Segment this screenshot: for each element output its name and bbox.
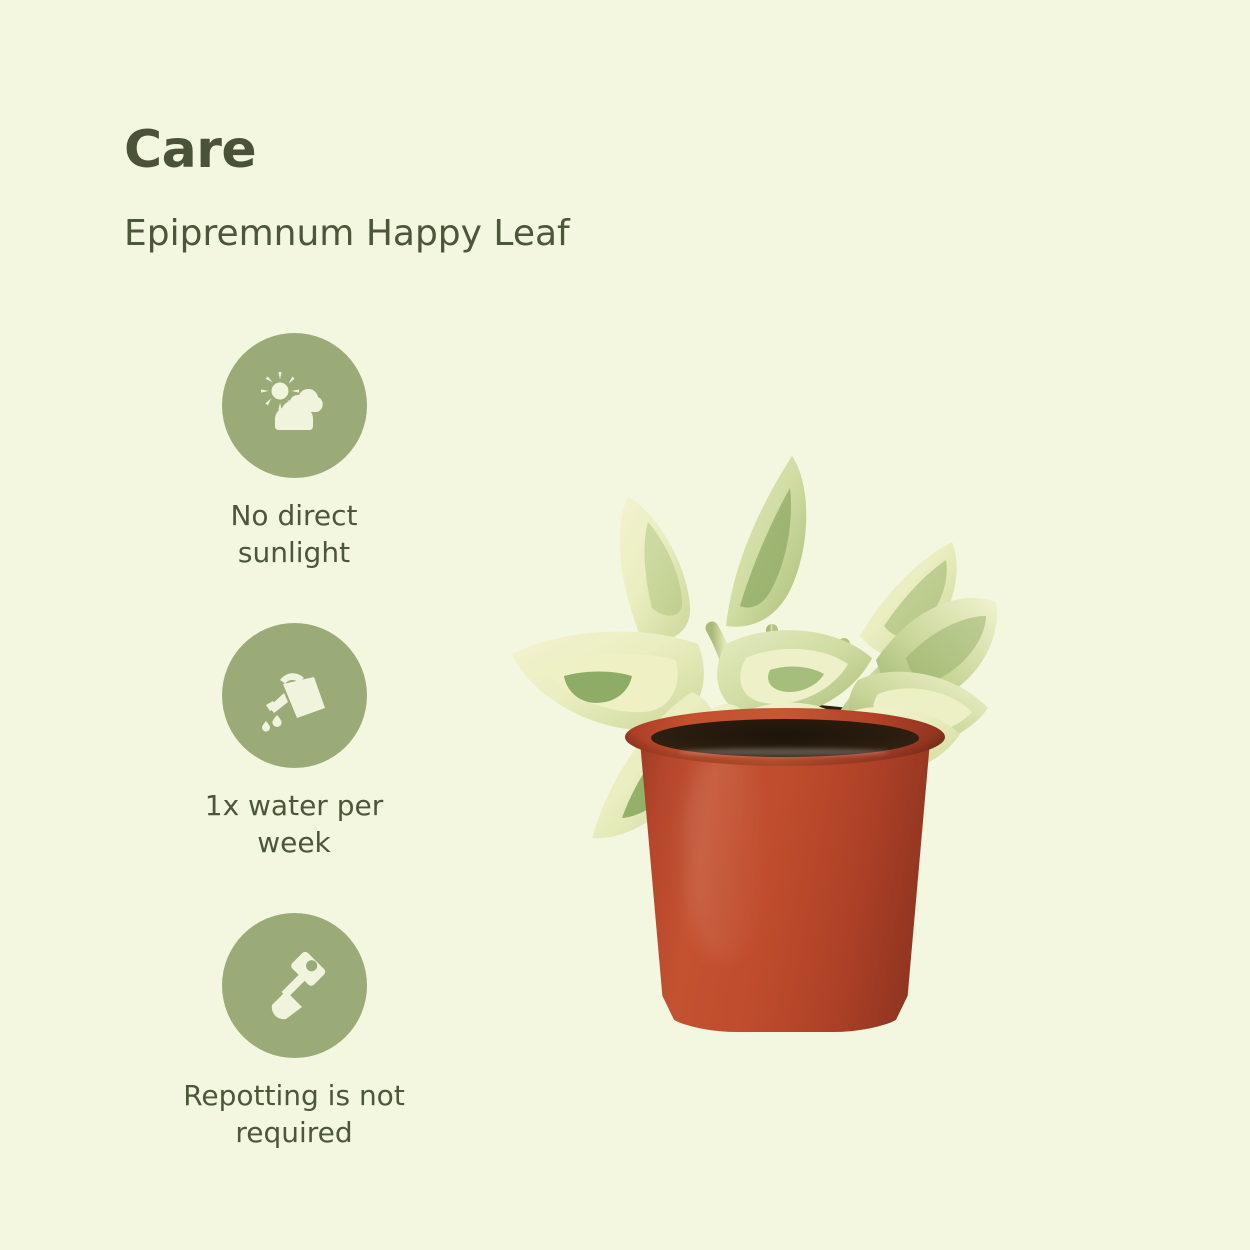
care-items-list: No direct sunlight: [140, 333, 448, 1152]
plant-species-name: Epipremnum Happy Leaf: [124, 214, 570, 254]
care-item-label: 1x water per week: [144, 788, 444, 862]
nursery-pot: [625, 708, 945, 1053]
care-item-repotting: Repotting is not required: [140, 913, 448, 1152]
care-item-label: No direct sunlight: [144, 498, 444, 572]
pot-foot-notch-left: [720, 1041, 762, 1053]
pot-rim-highlight: [679, 748, 889, 756]
watering-can-icon: [222, 623, 367, 768]
pot-body: [639, 730, 931, 1032]
pot-foot-notch-right: [775, 1041, 809, 1053]
care-item-water: 1x water per week: [140, 623, 448, 862]
plant-product-image: [440, 430, 1020, 1070]
shovel-icon: [222, 913, 367, 1058]
care-infographic-page: Care Epipremnum Happy Leaf: [0, 0, 1250, 1250]
care-item-sunlight: No direct sunlight: [140, 333, 448, 572]
care-item-label: Repotting is not required: [144, 1078, 444, 1152]
page-title: Care: [124, 124, 256, 176]
sun-behind-cloud-icon: [222, 333, 367, 478]
pot-rim: [625, 708, 945, 766]
